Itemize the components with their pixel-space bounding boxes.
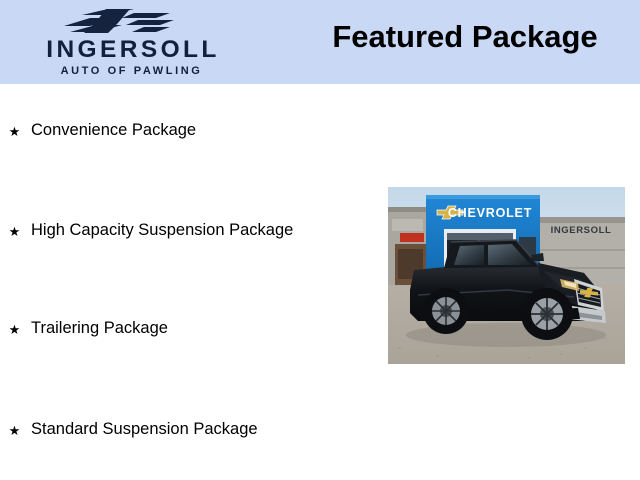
star-bullet-icon: ★ [8,424,21,437]
feature-label: Standard Suspension Package [31,420,258,440]
dealer-brand-name: INGERSOLL [8,38,258,63]
list-item: ★ Standard Suspension Package [8,417,378,443]
feature-label: Trailering Package [31,319,168,339]
svg-text:CHEVROLET: CHEVROLET [448,206,532,220]
dealer-brand-tagline: AUTO OF PAWLING [8,66,255,77]
feature-label: High Capacity Suspension Package [31,221,293,241]
list-item: ★ Trailering Package [8,316,378,342]
slide-header-band: INGERSOLL AUTO OF PAWLING Featured Packa… [0,0,640,84]
star-bullet-icon: ★ [8,323,21,336]
feature-label: Convenience Package [31,121,196,141]
svg-text:INGERSOLL: INGERSOLL [551,225,612,236]
list-item: ★ Convenience Package [8,118,378,144]
feature-list: ★ Convenience Package ★ High Capacity Su… [0,84,380,480]
star-bullet-icon: ★ [8,225,21,238]
list-item: ★ High Capacity Suspension Package [8,218,378,244]
vehicle-photo: INGERSOLL CHEVROLET [388,187,625,364]
page-title: Featured Package [300,20,630,54]
star-bullet-icon: ★ [8,125,21,138]
ingersoll-wing-emblem-icon [60,6,180,36]
dealer-logo: INGERSOLL AUTO OF PAWLING [8,4,258,82]
